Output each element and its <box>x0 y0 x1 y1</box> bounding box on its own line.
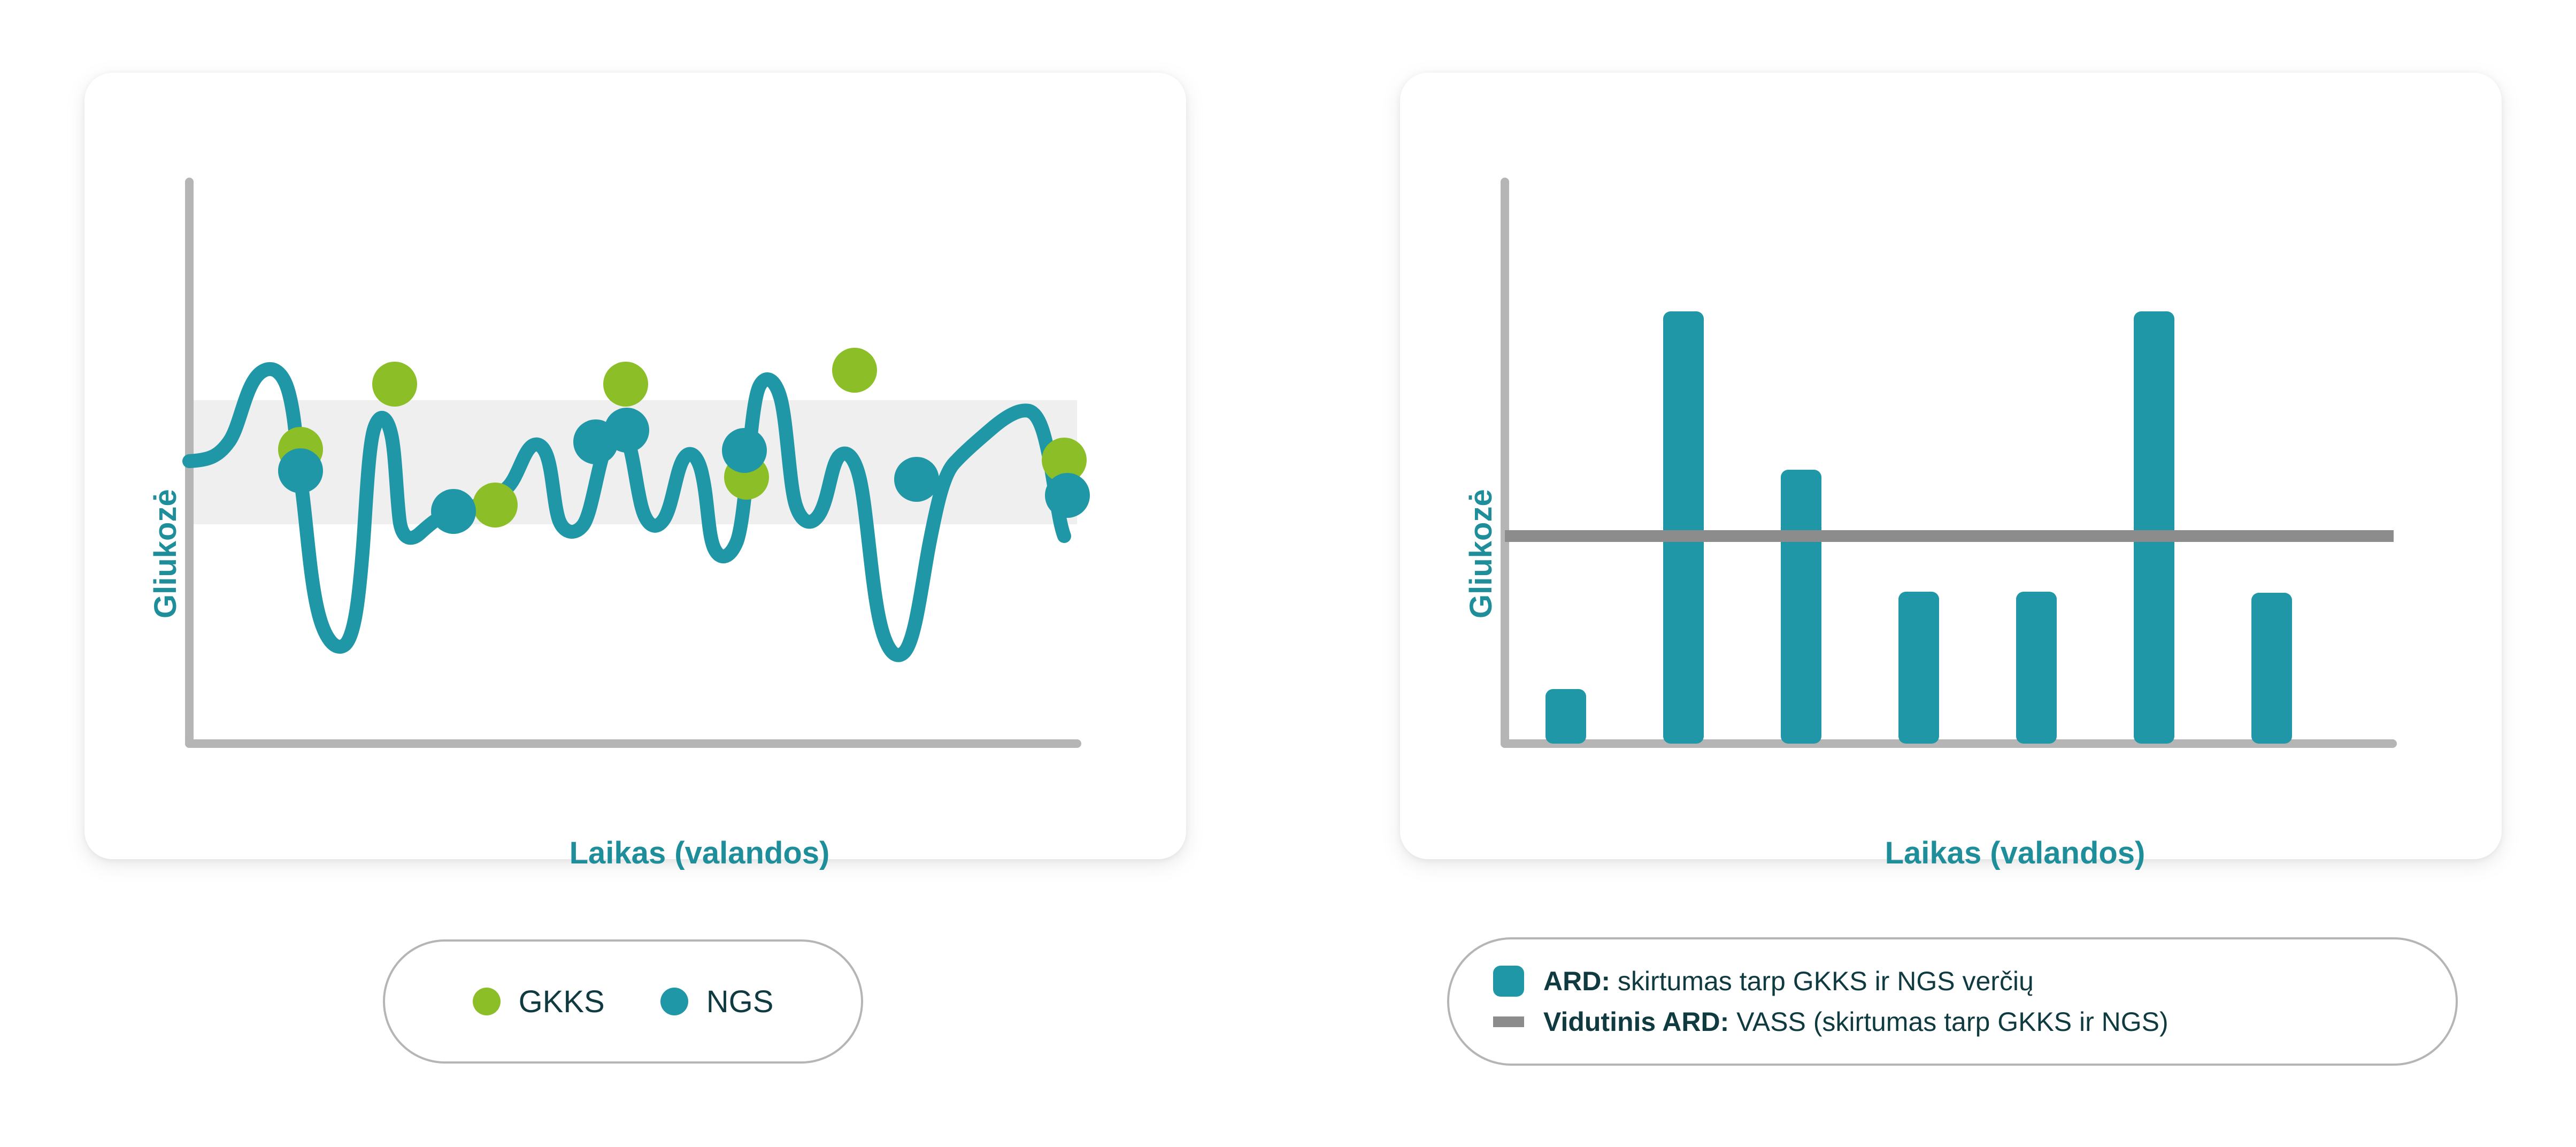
legend-item-gkks[interactable]: GKKS <box>473 984 605 1020</box>
ard-bar <box>1781 470 1821 744</box>
legend-label-ard: ARD: skirtumas tarp GKKS ir NGS verčių <box>1543 966 2034 997</box>
legend-item-ngs[interactable]: NGS <box>660 984 774 1020</box>
ard-square-icon <box>1493 966 1524 997</box>
gkks-marker <box>832 348 877 393</box>
y-axis-title: Gliukozė <box>148 489 183 618</box>
ngs-marker <box>431 489 476 534</box>
ard-bars-legend: ARD: skirtumas tarp GKKS ir NGS verčių V… <box>1447 937 2458 1066</box>
cgm-trace-card: Gliukozė Laikas (valandos) <box>84 73 1186 859</box>
legend-label-ngs: NGS <box>706 984 774 1020</box>
gkks-marker <box>603 362 648 407</box>
x-axis-title: Laikas (valandos) <box>1582 835 2448 871</box>
legend-label-ard-strong: ARD: <box>1543 966 1610 996</box>
legend-item-ard[interactable]: ARD: skirtumas tarp GKKS ir NGS verčių <box>1493 966 2034 997</box>
ard-bar <box>1545 689 1586 744</box>
gkks-marker <box>372 362 417 407</box>
legend-label-mean-ard: Vidutinis ARD: VASS (skirtumas tarp GKKS… <box>1543 1006 2169 1037</box>
ngs-marker <box>894 457 939 502</box>
ard-bar <box>2016 592 2057 744</box>
ngs-marker <box>604 408 649 453</box>
ard-bars-plot <box>1400 73 2502 859</box>
cgm-trace-legend: GKKS NGS <box>383 939 863 1064</box>
y-axis-title: Gliukozė <box>1463 489 1499 618</box>
ard-bars-svg <box>1400 73 2502 859</box>
cgm-trace-svg <box>84 73 1186 859</box>
x-axis-title: Laikas (valandos) <box>266 835 1133 871</box>
legend-label-gkks: GKKS <box>519 984 605 1020</box>
ard-bar <box>1663 311 1704 744</box>
legend-label-mean-ard-strong: Vidutinis ARD: <box>1543 1007 1729 1037</box>
legend-item-mean-ard[interactable]: Vidutinis ARD: VASS (skirtumas tarp GKKS… <box>1493 1006 2169 1037</box>
gkks-dot-icon <box>473 988 501 1015</box>
mean-ard-dash-icon <box>1493 1016 1524 1027</box>
ngs-dot-icon <box>660 988 688 1015</box>
ngs-marker <box>722 428 767 473</box>
gkks-marker <box>473 483 518 527</box>
legend-label-mean-ard-rest: VASS (skirtumas tarp GKKS ir NGS) <box>1729 1007 2168 1037</box>
ngs-marker <box>278 448 323 493</box>
ard-bars-card: Gliukozė Laikas (valandos) <box>1400 73 2502 859</box>
ard-bar <box>1898 592 1939 744</box>
ard-bar <box>2134 311 2174 744</box>
infographic-root: Gliukozė Laikas (valandos) <box>0 0 2576 1147</box>
ard-bars-group <box>1545 311 2292 744</box>
cgm-trace-plot <box>84 73 1186 859</box>
ard-bar <box>2251 593 2292 744</box>
ngs-marker <box>1045 473 1090 518</box>
legend-label-ard-rest: skirtumas tarp GKKS ir NGS verčių <box>1610 966 2034 996</box>
